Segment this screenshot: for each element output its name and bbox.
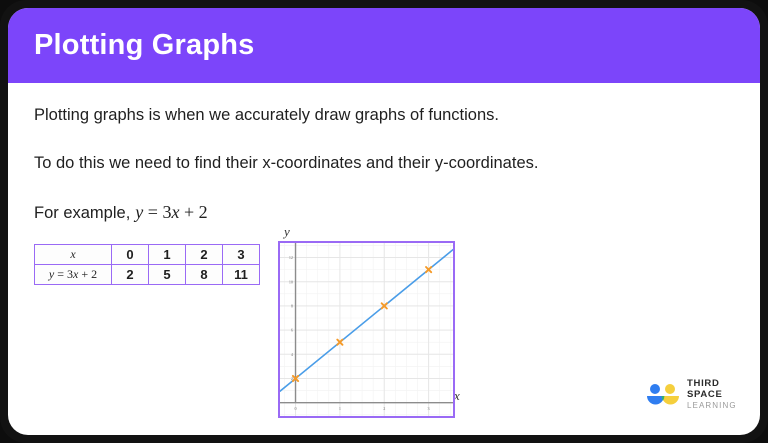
svg-text:3: 3	[428, 406, 430, 411]
paragraph-2: To do this we need to find their x-coord…	[34, 154, 538, 173]
logo-line-2: LEARNING	[687, 401, 754, 410]
content-card: Plotting Graphs Plotting graphs is when …	[8, 8, 760, 435]
slide-root: Plotting Graphs Plotting graphs is when …	[0, 0, 768, 443]
table-row: y = 3x + 2 2 5 8 11	[35, 265, 260, 285]
table-cell: 2	[112, 265, 149, 285]
table-cell: 5	[149, 265, 186, 285]
values-table: x 0 1 2 3 y = 3x + 2 2 5 8 11	[34, 244, 260, 285]
logo-mark-icon	[646, 383, 680, 407]
table-cell: 3	[223, 245, 260, 265]
svg-text:12: 12	[289, 255, 293, 260]
svg-text:8: 8	[291, 304, 293, 309]
example-equation: y = 3x + 2	[135, 202, 207, 223]
svg-text:0: 0	[294, 406, 296, 411]
logo-text: THIRD SPACE LEARNING	[687, 379, 754, 410]
paragraph-3: For example, y = 3x + 2	[34, 202, 208, 223]
table-cell: 1	[149, 245, 186, 265]
table-cell: 8	[186, 265, 223, 285]
svg-text:10: 10	[289, 279, 293, 284]
page-header: Plotting Graphs	[8, 8, 760, 83]
page-title: Plotting Graphs	[34, 29, 255, 62]
paragraph-1: Plotting graphs is when we accurately dr…	[34, 106, 499, 125]
logo-line-1: THIRD SPACE	[687, 379, 754, 401]
table-cell: 0	[112, 245, 149, 265]
brand-logo: THIRD SPACE LEARNING	[646, 378, 754, 412]
table-row-label: y = 3x + 2	[35, 265, 112, 285]
table-cell: 11	[223, 265, 260, 285]
svg-text:2: 2	[383, 406, 385, 411]
example-prefix: For example,	[34, 204, 130, 223]
svg-text:1: 1	[339, 406, 341, 411]
plot-area: 012324681012	[278, 241, 455, 418]
graph-figure: y x 012324681012	[276, 228, 476, 428]
table-cell: 2	[186, 245, 223, 265]
svg-text:6: 6	[291, 328, 293, 333]
line-chart: 012324681012	[280, 243, 453, 416]
table-row-label: x	[35, 245, 112, 265]
y-axis-label: y	[284, 224, 290, 240]
table-row: x 0 1 2 3	[35, 245, 260, 265]
